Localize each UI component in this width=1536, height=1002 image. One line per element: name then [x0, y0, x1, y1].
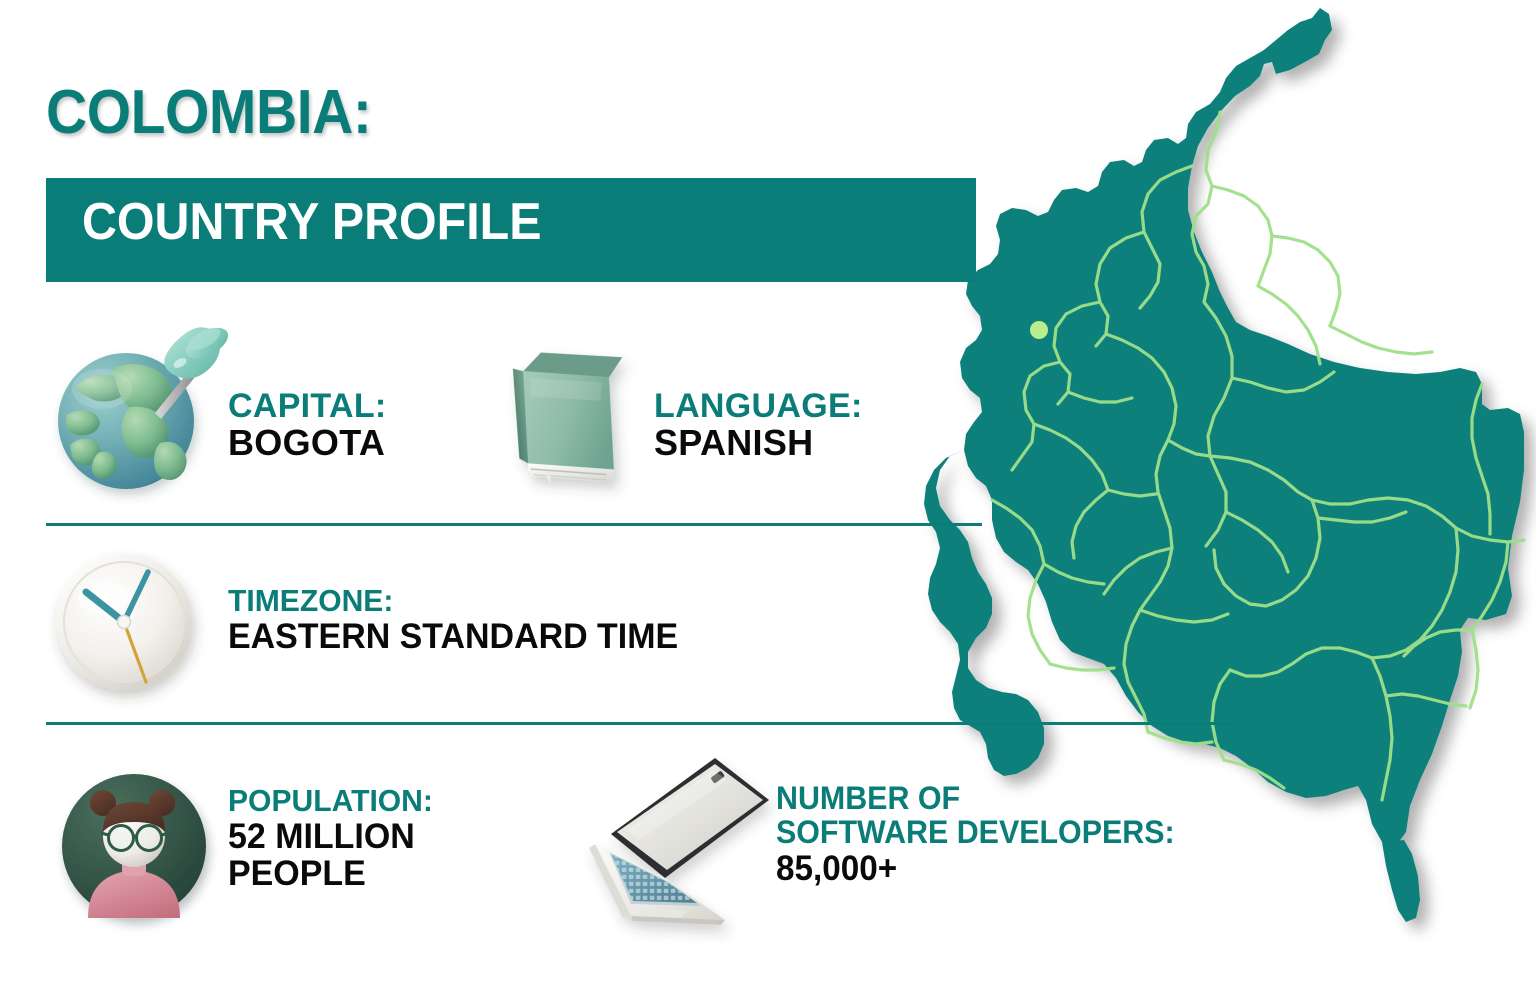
laptop-icon	[565, 748, 780, 928]
infographic-canvas: COLOMBIA: COUNTRY PROFILE	[0, 0, 1536, 1002]
bogota-marker	[1030, 321, 1048, 339]
fact-population-value: 52 MILLION PEOPLE	[228, 818, 433, 892]
fact-population: POPULATION: 52 MILLION PEOPLE	[228, 785, 439, 892]
fact-developers-label: NUMBER OF SOFTWARE DEVELOPERS:	[776, 782, 1175, 850]
banner-label: COUNTRY PROFILE	[82, 196, 541, 248]
fact-developers: NUMBER OF SOFTWARE DEVELOPERS: 85,000+	[776, 782, 1196, 887]
fact-developers-value: 85,000+	[776, 850, 1175, 887]
fact-population-label: POPULATION:	[228, 785, 433, 818]
fact-language: LANGUAGE: SPANISH	[654, 388, 863, 462]
book-icon	[510, 333, 660, 498]
fact-language-value: SPANISH	[654, 424, 863, 462]
person-avatar-icon	[58, 770, 210, 922]
clock-icon	[52, 548, 202, 698]
amazon-spur	[1382, 840, 1420, 922]
fact-language-label: LANGUAGE:	[654, 388, 863, 424]
fact-timezone-label: TIMEZONE:	[228, 585, 678, 618]
fact-capital: CAPITAL: BOGOTA	[228, 388, 387, 462]
fact-timezone-value: EASTERN STANDARD TIME	[228, 618, 678, 655]
page-title: COLOMBIA:	[46, 82, 371, 144]
section-divider-2	[46, 722, 1236, 725]
fact-capital-label: CAPITAL:	[228, 388, 387, 424]
fact-timezone: TIMEZONE: EASTERN STANDARD TIME	[228, 585, 692, 655]
section-divider-1	[46, 523, 982, 526]
fact-capital-value: BOGOTA	[228, 424, 387, 462]
globe-pin-icon	[52, 303, 232, 498]
